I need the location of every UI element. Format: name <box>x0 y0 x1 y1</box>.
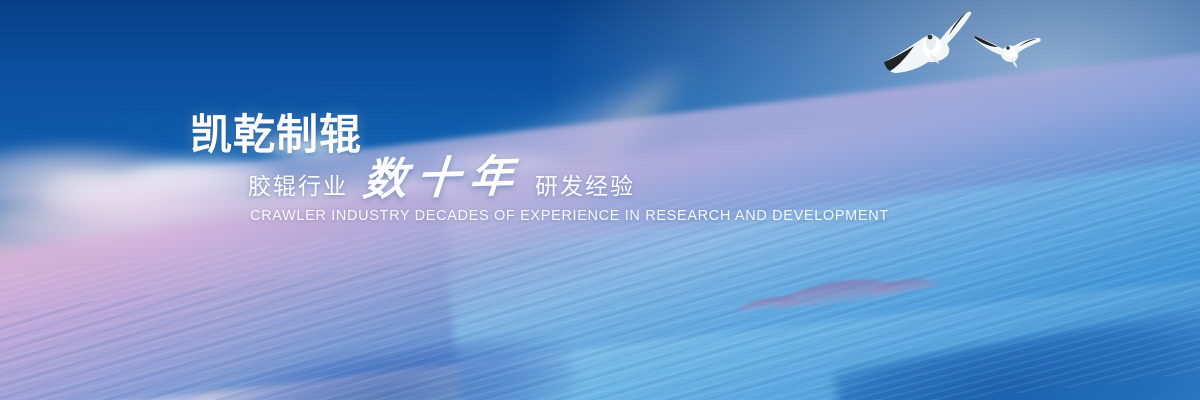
brand-headline: 凯乾制辊 <box>190 112 870 158</box>
sub-headline-suffix: 研发经验 <box>535 171 635 201</box>
sub-headline-brush-calligraphy: 数十年 <box>353 155 530 204</box>
hero-banner: 凯乾制辊 胶辊行业 数十年 研发经验 CRAWLER INDUSTRY DECA… <box>0 0 1200 400</box>
banner-text-block: 凯乾制辊 胶辊行业 数十年 研发经验 CRAWLER INDUSTRY DECA… <box>190 112 870 226</box>
sub-headline-row: 胶辊行业 数十年 研发经验 <box>190 157 870 201</box>
seagull-left-icon <box>880 6 980 78</box>
seagull-right-icon <box>972 22 1046 74</box>
english-tagline: CRAWLER INDUSTRY DECADES OF EXPERIENCE I… <box>190 206 870 226</box>
sub-headline-prefix: 胶辊行业 <box>248 171 348 201</box>
